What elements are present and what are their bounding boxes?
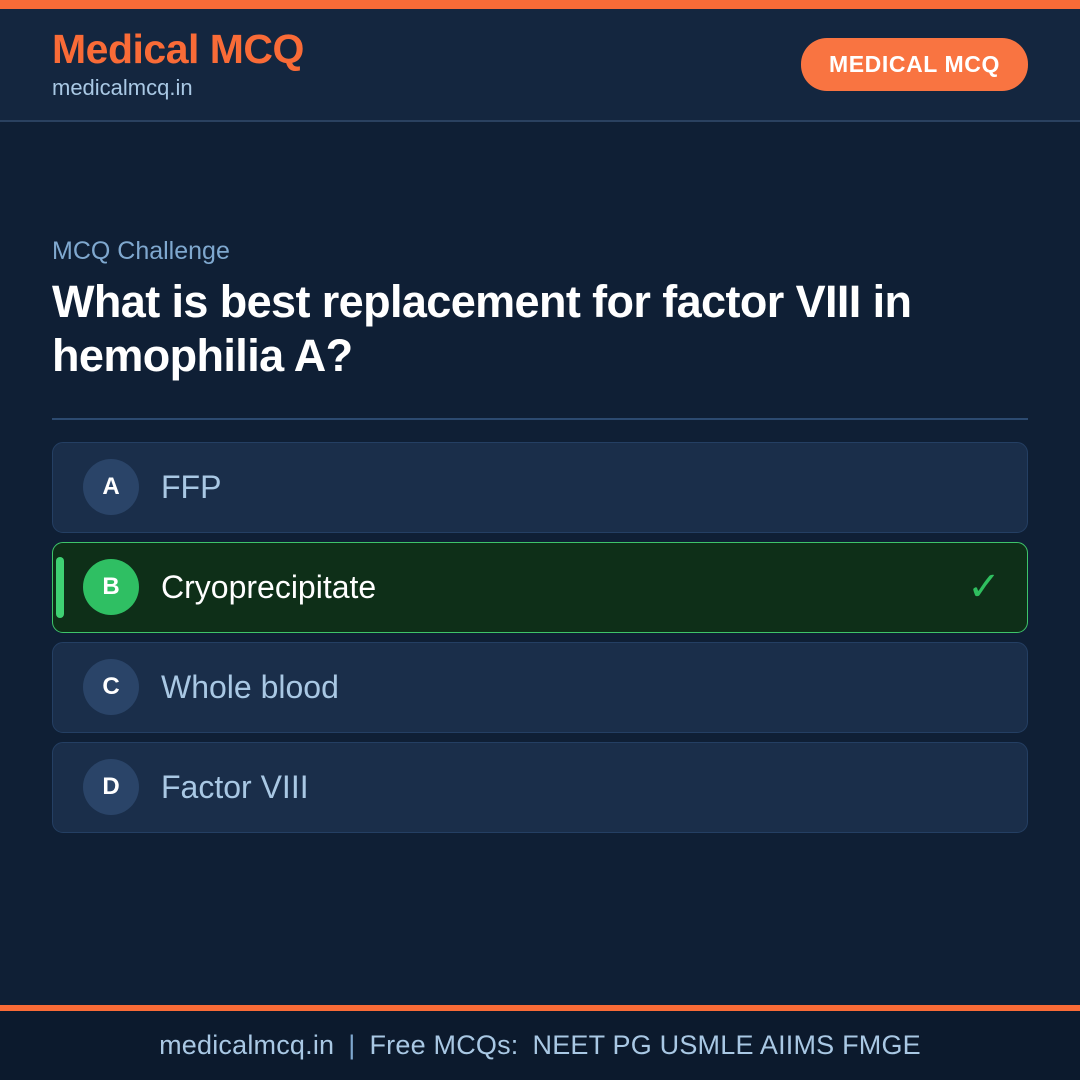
option-key-badge: D [83, 759, 139, 815]
footer-site: medicalmcq.in [159, 1030, 334, 1061]
eyebrow-label: MCQ Challenge [52, 236, 1028, 266]
brand: Medical MCQ medicalmcq.in [52, 27, 304, 103]
option-d[interactable]: D Factor VIII ✓ [52, 742, 1028, 833]
option-accent-bar [56, 557, 64, 618]
option-a[interactable]: A FFP ✓ [52, 442, 1028, 533]
brand-title: Medical MCQ [52, 27, 304, 71]
main-content: MCQ Challenge What is best replacement f… [0, 122, 1080, 1005]
footer: medicalmcq.in | Free MCQs: NEET PG USMLE… [0, 1011, 1080, 1080]
option-key-badge: C [83, 659, 139, 715]
option-label: Factor VIII [161, 768, 967, 806]
header-badge: MEDICAL MCQ [801, 38, 1028, 91]
question-text: What is best replacement for factor VIII… [52, 275, 932, 381]
option-key-badge: B [83, 559, 139, 615]
header: Medical MCQ medicalmcq.in MEDICAL MCQ [0, 9, 1080, 122]
options-list: A FFP ✓ B Cryoprecipitate ✓ C Whole bloo… [52, 442, 1028, 833]
option-key-badge: A [83, 459, 139, 515]
top-accent-bar [0, 0, 1080, 9]
footer-separator: | [334, 1030, 369, 1061]
option-label: FFP [161, 468, 967, 506]
check-icon: ✓ [967, 567, 1001, 607]
option-label: Whole blood [161, 668, 967, 706]
question-divider [52, 418, 1028, 420]
footer-exams-label: Free MCQs: [369, 1030, 518, 1061]
brand-subtitle: medicalmcq.in [52, 73, 304, 103]
option-b[interactable]: B Cryoprecipitate ✓ [52, 542, 1028, 633]
mcq-card: Medical MCQ medicalmcq.in MEDICAL MCQ MC… [0, 0, 1080, 1080]
option-label: Cryoprecipitate [161, 568, 967, 606]
footer-exams: NEET PG USMLE AIIMS FMGE [519, 1030, 921, 1061]
option-c[interactable]: C Whole blood ✓ [52, 642, 1028, 733]
